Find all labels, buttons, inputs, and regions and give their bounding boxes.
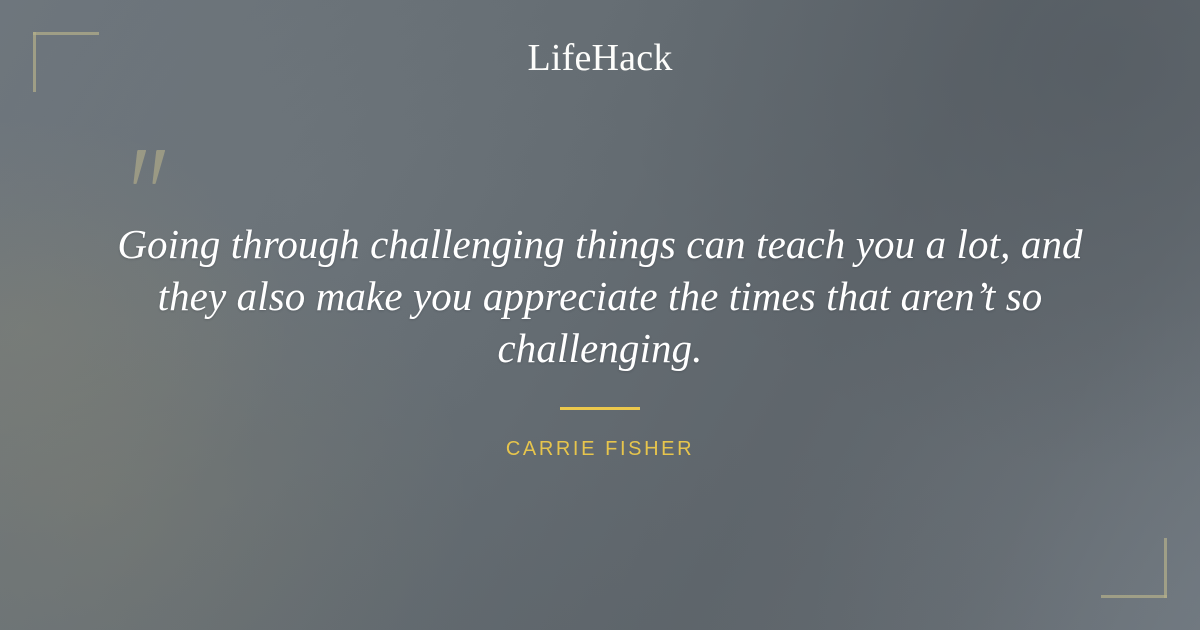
quote-mark-stroke-left — [131, 150, 147, 184]
gold-divider — [560, 407, 640, 410]
brand-logo: LifeHack — [0, 38, 1200, 80]
quote-text: Going through challenging things can tea… — [100, 218, 1100, 374]
quote-mark-stroke-right — [150, 150, 166, 184]
quote-line: challenging. — [100, 322, 1100, 374]
quote-author: CARRIE FISHER — [0, 438, 1200, 461]
corner-bracket-top-left-horizontal — [33, 32, 99, 35]
quote-card-canvas: LifeHack Going through challenging thing… — [0, 0, 1200, 630]
corner-bracket-bottom-right-horizontal — [1101, 595, 1167, 598]
quote-mark-icon — [132, 150, 174, 192]
corner-bracket-bottom-right-icon — [1101, 538, 1167, 598]
quote-line: Going through challenging things can tea… — [100, 218, 1100, 270]
quote-line: they also make you appreciate the times … — [100, 270, 1100, 322]
corner-bracket-bottom-right-vertical — [1164, 538, 1167, 598]
